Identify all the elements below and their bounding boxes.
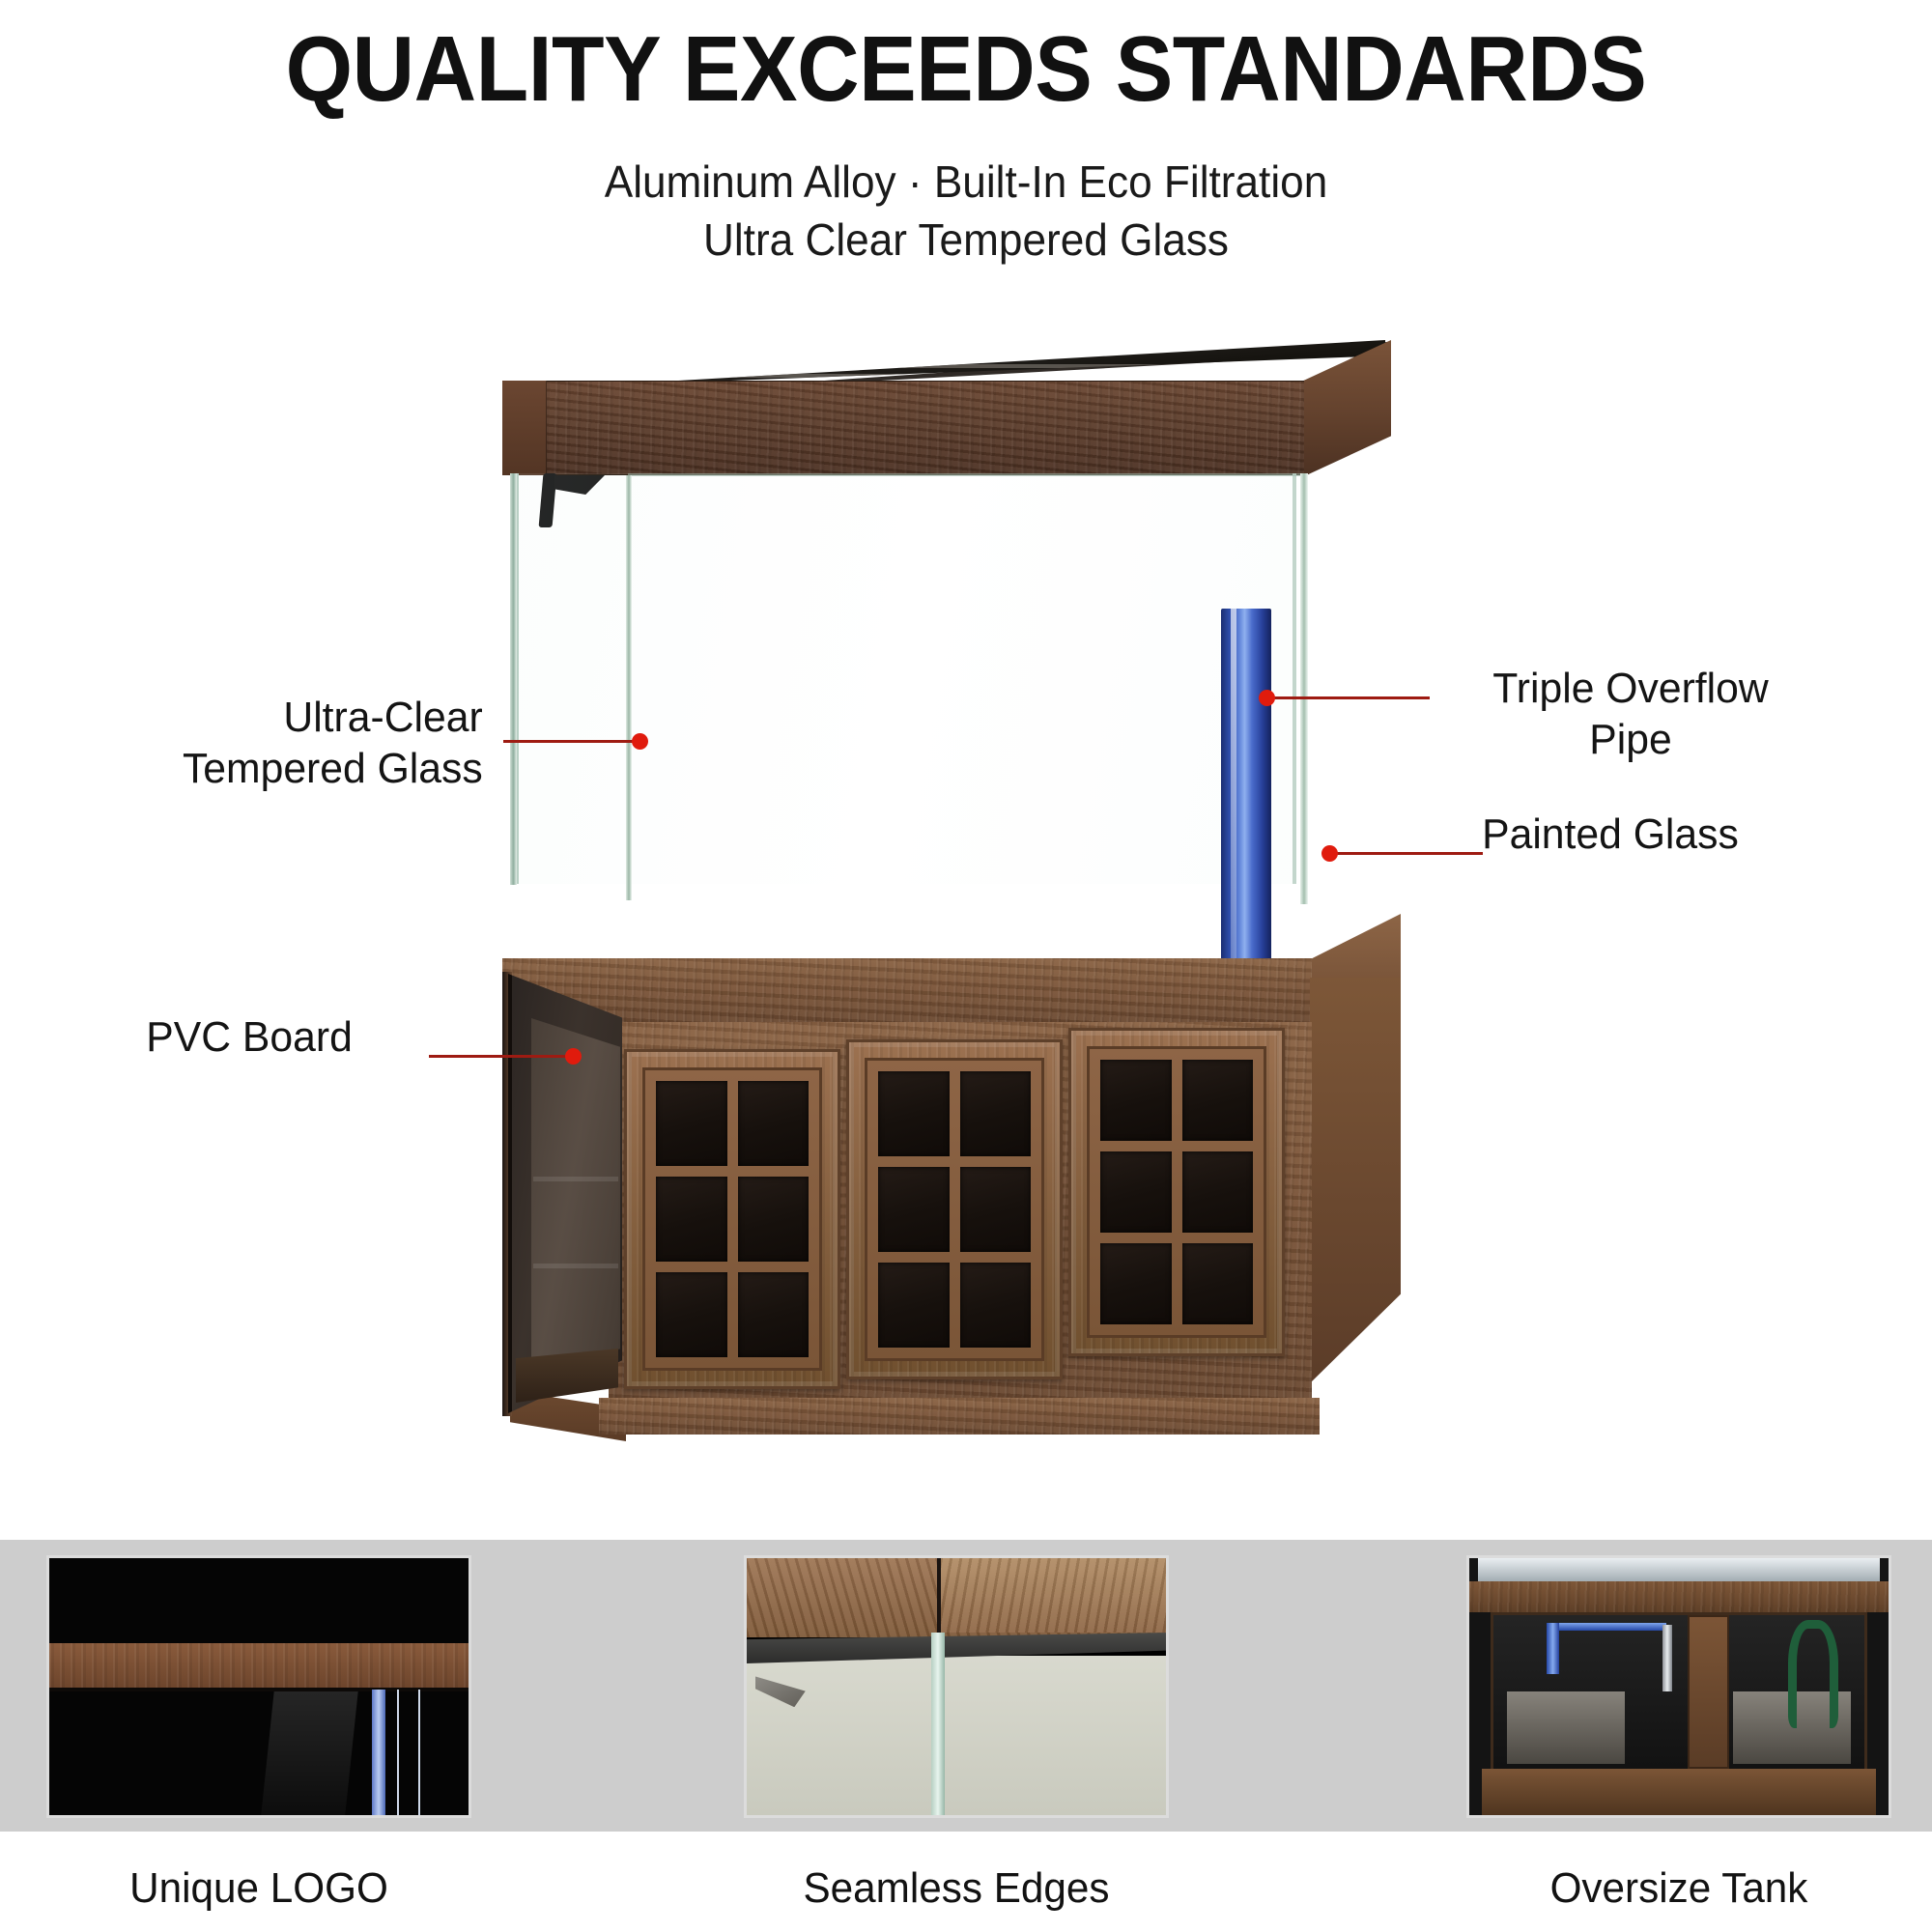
hood-right-face (1302, 340, 1391, 477)
thumb1-overflow-pipe (372, 1690, 385, 1815)
callout-line-1: PVC Board (146, 1012, 353, 1064)
thumb2-wood-top-right (940, 1558, 1166, 1633)
callout-triple-overflow-pipe: Triple Overflow Pipe (1434, 664, 1827, 766)
cabinet-door-center-frame (865, 1058, 1044, 1361)
painted-glass-pane (878, 1167, 950, 1252)
thumbnail-unique-logo[interactable] (46, 1555, 471, 1818)
pvc-board-seam (533, 1264, 618, 1268)
callout-line-1: Ultra-Clear (89, 693, 482, 744)
painted-glass-pane (738, 1177, 810, 1262)
hood-top-dark-panel (516, 340, 1385, 386)
cabinet-door-left-frame (642, 1067, 822, 1371)
callout-leader-line-painted-glass (1328, 852, 1483, 855)
subtitle-line-1: Aluminum Alloy · Built-In Eco Filtration (39, 154, 1893, 212)
thumb2-mitre-seam (937, 1558, 941, 1637)
painted-glass-pane (960, 1071, 1032, 1156)
painted-glass-pane (1100, 1060, 1172, 1141)
callout-painted-glass: Painted Glass (1482, 810, 1739, 861)
callout-dot-ultra-clear (632, 733, 648, 750)
glass-front-left-corner-edge (626, 475, 632, 900)
page-title: QUALITY EXCEEDS STANDARDS (68, 21, 1864, 119)
cabinet-door-right[interactable] (1068, 1028, 1285, 1356)
thumbnail-unique-logo-image (49, 1558, 469, 1815)
subtitle-line-2: Ultra Clear Tempered Glass (39, 212, 1893, 270)
painted-glass-pane (1100, 1151, 1172, 1233)
callout-dot-painted-glass (1321, 845, 1338, 862)
pvc-board-interior (531, 1018, 620, 1378)
thumbnail-seamless-edges[interactable] (744, 1555, 1169, 1818)
thumb2-glass-surface (747, 1656, 1166, 1815)
glass-right-edge (1300, 473, 1308, 904)
hood-left-cap (502, 381, 547, 475)
callout-leader-line-ultra-clear (503, 740, 639, 743)
callout-leader-line-pvc-board (429, 1055, 574, 1058)
thumb3-top-glass (1478, 1558, 1881, 1584)
painted-glass-pane (960, 1167, 1032, 1252)
painted-glass-pane (878, 1071, 950, 1156)
thumb3-white-pipe (1662, 1625, 1672, 1691)
painted-glass-pane (1182, 1243, 1254, 1324)
cabinet-top-rail (502, 958, 1312, 1026)
cabinet-right-side-panel (1310, 978, 1401, 1383)
glass-tank-body (502, 473, 1430, 918)
callout-dot-triple-overflow (1259, 690, 1275, 706)
callout-line-1: Painted Glass (1482, 810, 1739, 861)
cabinet-door-left[interactable] (624, 1049, 840, 1389)
thumbnail-caption-oversize-tank: Oversize Tank (1475, 1864, 1883, 1913)
thumb3-open-door-panel (1688, 1615, 1729, 1770)
cabinet-stand (502, 958, 1430, 1485)
thumb3-cabinet-floor (1482, 1769, 1876, 1815)
painted-glass-pane (878, 1263, 950, 1348)
aquarium-product-image (502, 340, 1430, 1485)
thumbnail-seamless-edges-image (747, 1558, 1166, 1815)
cabinet-base-rail (599, 1398, 1320, 1435)
thumb3-green-hose (1788, 1620, 1838, 1728)
callout-leader-line-triple-overflow (1265, 696, 1430, 699)
subtitle-block: Aluminum Alloy · Built-In Eco Filtration… (0, 154, 1932, 270)
callout-ultra-clear-tempered-glass: Ultra-Clear Tempered Glass (89, 693, 482, 795)
painted-glass-pane (738, 1272, 810, 1357)
painted-glass-pane (960, 1263, 1032, 1348)
header: QUALITY EXCEEDS STANDARDS Aluminum Alloy… (0, 0, 1932, 269)
thumb3-wood-rail (1469, 1581, 1889, 1612)
thumbnail-caption-seamless-edges: Seamless Edges (753, 1864, 1160, 1913)
callout-line-2: Pipe (1434, 715, 1827, 766)
painted-glass-pane (656, 1081, 727, 1166)
thumbnail-caption-unique-logo: Unique LOGO (55, 1864, 463, 1913)
painted-glass-pane (1182, 1151, 1254, 1233)
thumb1-glass-edge (418, 1690, 420, 1815)
cabinet-door-center[interactable] (846, 1039, 1063, 1379)
painted-glass-pane (738, 1081, 810, 1166)
hood-slat (620, 364, 1316, 368)
thumb3-blue-pipe-horizontal (1548, 1623, 1666, 1632)
callout-line-1: Triple Overflow (1434, 664, 1827, 715)
thumbnail-oversize-tank-image (1469, 1558, 1889, 1815)
product-illustration-stage: Ultra-Clear Tempered Glass Triple Overfl… (0, 319, 1932, 1536)
callout-line-2: Tempered Glass (89, 744, 482, 795)
painted-glass-pane (656, 1177, 727, 1262)
painted-glass-pane (1100, 1243, 1172, 1324)
thumb1-glass-edge (397, 1690, 399, 1815)
painted-glass-pane (1182, 1060, 1254, 1141)
painted-glass-pane (656, 1272, 727, 1357)
thumb1-glass-glare (261, 1691, 357, 1815)
callout-pvc-board: PVC Board (146, 1012, 353, 1064)
hood-front-face (502, 381, 1304, 475)
glass-back-top-edge (628, 473, 1304, 476)
pvc-board-seam (533, 1177, 618, 1181)
thumb2-glass-corner-edge (931, 1633, 945, 1815)
pvc-board-panel (508, 974, 622, 1413)
thumb3-blue-pipe-vertical (1547, 1623, 1559, 1674)
thumb1-wood-rail (49, 1643, 469, 1692)
thumbnail-oversize-tank[interactable] (1466, 1555, 1891, 1818)
cabinet-door-right-frame (1087, 1046, 1266, 1338)
thumb3-sump-left (1507, 1691, 1625, 1763)
glass-left-edge (510, 473, 517, 885)
callout-dot-pvc-board (565, 1048, 582, 1065)
